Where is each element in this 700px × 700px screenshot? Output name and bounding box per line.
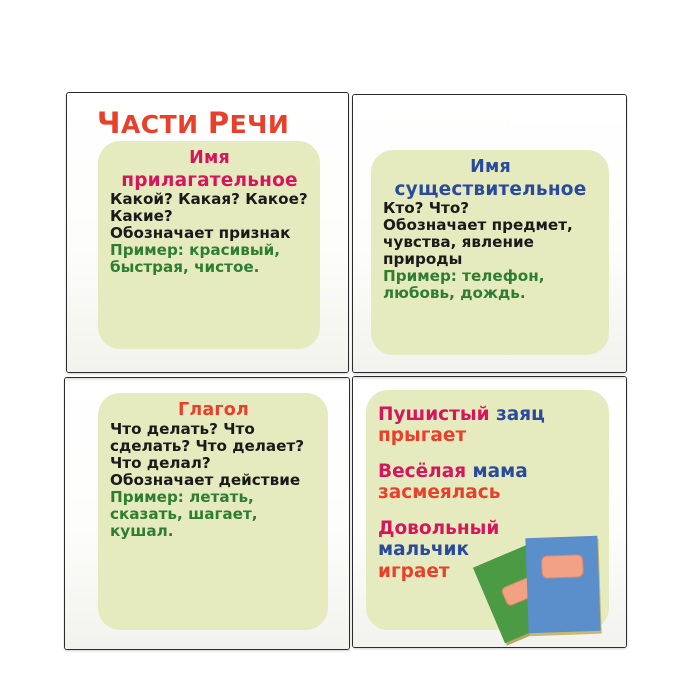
notebooks-illustration bbox=[484, 530, 612, 642]
noun-example-line-1: Пример: телефон, bbox=[383, 268, 598, 285]
cube-sentences[interactable]: Пушистый заяц прыгает Весёлая мама засме… bbox=[352, 376, 627, 648]
sentence-noun: заяц bbox=[496, 404, 545, 425]
sentence-noun: мама bbox=[473, 461, 528, 482]
sentence-item: Пушистый заяц прыгает bbox=[378, 404, 597, 447]
verb-meaning: Обозначает действие bbox=[110, 472, 317, 489]
card-title-adjective: Имя прилагательное bbox=[110, 149, 309, 191]
title-cap-2: Р bbox=[208, 106, 230, 140]
sentence-verb: прыгает bbox=[378, 425, 597, 446]
cube-face: Глагол Что делать? Что сделать? Что дела… bbox=[65, 378, 349, 649]
notebook-label bbox=[541, 554, 584, 578]
title-cap-1: Ч bbox=[97, 106, 121, 140]
product-photo-stage: ЧАСТИ РЕЧИ Имя прилагательное Какой? Как… bbox=[0, 0, 700, 700]
card-title-line1: Имя bbox=[470, 157, 511, 177]
noun-question-line-1: Кто? Что? bbox=[383, 200, 598, 217]
verb-question-line-1: Что делать? Что bbox=[110, 421, 317, 438]
sticker-card-verb: Глагол Что делать? Что сделать? Что дела… bbox=[98, 393, 328, 630]
adjective-meaning: Обозначает признак bbox=[110, 225, 309, 242]
verb-example-line-1: Пример: летать, bbox=[110, 489, 317, 506]
noun-meaning-line-3: природы bbox=[383, 251, 598, 268]
card-title-noun: Имя существительное bbox=[383, 158, 598, 200]
sticker-card-adjective: Имя прилагательное Какой? Какая? Какое? … bbox=[98, 141, 320, 349]
title-rest-1: АСТИ bbox=[121, 110, 199, 139]
cube-adjective[interactable]: ЧАСТИ РЕЧИ Имя прилагательное Какой? Как… bbox=[66, 92, 349, 373]
adjective-example-line-1: Пример: красивый, bbox=[110, 242, 309, 259]
cube-top-edge bbox=[353, 377, 626, 380]
adjective-example-line-2: быстрая, чистое. bbox=[110, 259, 309, 276]
card-title-line1: Имя bbox=[189, 148, 230, 168]
noun-meaning-line-2: чувства, явление bbox=[383, 234, 598, 251]
cube-top-edge bbox=[65, 378, 349, 381]
verb-question-line-2: сделать? Что делает? bbox=[110, 438, 317, 455]
sentence-item: Весёлая мама засмеялась bbox=[378, 461, 597, 504]
sticker-card-noun: Имя существительное Кто? Что? Обозначает… bbox=[371, 150, 609, 355]
cube-verb[interactable]: Глагол Что делать? Что сделать? Что дела… bbox=[64, 377, 350, 650]
cube-face: Имя существительное Кто? Что? Обозначает… bbox=[353, 95, 626, 372]
verb-question-line-3: Что делал? bbox=[110, 455, 317, 472]
title-rest-2: ЕЧИ bbox=[230, 110, 290, 139]
cube-noun[interactable]: Имя существительное Кто? Что? Обозначает… bbox=[352, 94, 627, 373]
noun-example-line-2: любовь, дождь. bbox=[383, 285, 598, 302]
card-title-line2: существительное bbox=[383, 180, 598, 201]
sentence-adjective: Весёлая bbox=[378, 461, 466, 482]
sentence-adjective: Пушистый bbox=[378, 404, 490, 425]
card-title-line2: прилагательное bbox=[110, 171, 309, 192]
cube-face: Пушистый заяц прыгает Весёлая мама засме… bbox=[353, 377, 626, 647]
cube-face: ЧАСТИ РЕЧИ Имя прилагательное Какой? Как… bbox=[67, 93, 348, 372]
adjective-question-line-1: Какой? Какая? Какое? bbox=[110, 191, 309, 208]
adjective-question-line-2: Какие? bbox=[110, 208, 309, 225]
sentence-verb: засмеялась bbox=[378, 482, 597, 503]
blue-notebook-icon bbox=[525, 536, 600, 633]
sticker-card-sentences: Пушистый заяц прыгает Весёлая мама засме… bbox=[366, 390, 609, 630]
cube-block: ЧАСТИ РЕЧИ Имя прилагательное Какой? Как… bbox=[64, 92, 627, 650]
verb-example-line-2: сказать, шагает, кушал. bbox=[110, 506, 317, 540]
page-title: ЧАСТИ РЕЧИ bbox=[97, 106, 289, 140]
noun-meaning-line-1: Обозначает предмет, bbox=[383, 217, 598, 234]
card-title-verb: Глагол bbox=[110, 401, 317, 421]
